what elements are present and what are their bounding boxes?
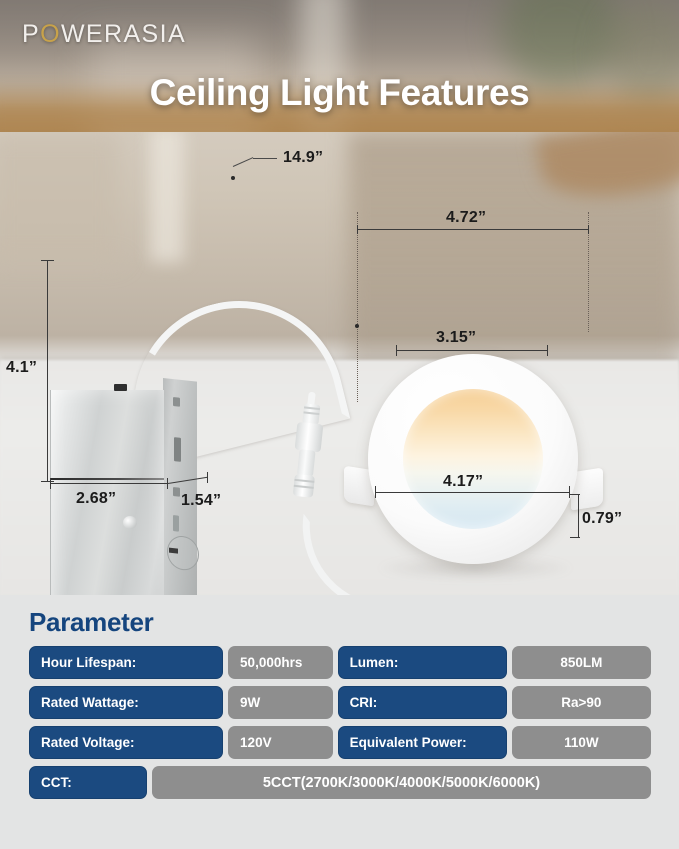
junction-box-cable-entry: [114, 384, 127, 391]
connector-part: [297, 449, 316, 477]
dimension-tick: [547, 345, 548, 356]
param-key-equivalent-power: Equivalent Power:: [338, 726, 507, 759]
param-value-rated-wattage: 9W: [228, 686, 333, 719]
connector-body: [295, 422, 324, 453]
dimension-tick: [207, 472, 208, 483]
cable-callout-anchor: [231, 176, 235, 180]
param-value-lumen: 850LM: [512, 646, 651, 679]
dimension-tick: [396, 345, 397, 356]
param-key-cct: CCT:: [29, 766, 147, 799]
dimension-line-box-height: [47, 260, 48, 482]
junction-box-knockout: [167, 534, 199, 571]
param-value-equivalent-power: 110W: [512, 726, 651, 759]
param-key-lumen: Lumen:: [338, 646, 507, 679]
param-value-cri: Ra>90: [512, 686, 651, 719]
dimension-tick: [50, 478, 51, 489]
junction-box-slot: [174, 437, 181, 462]
dimension-label-box-height: 4.1”: [6, 359, 37, 377]
background-blur-shape: [0, 132, 120, 262]
dimension-tick: [41, 481, 54, 482]
dimension-tick: [588, 225, 589, 234]
downlight-lens-gradient: [403, 389, 543, 529]
dimension-tick: [570, 494, 580, 495]
table-row: CCT: 5CCT(2700K/3000K/4000K/5000K/6000K): [29, 766, 651, 799]
dimension-line-side-height: [578, 494, 579, 538]
cable-callout-leader: [253, 158, 277, 159]
dimension-tick: [569, 486, 570, 498]
dimension-label-side-width: 4.17”: [443, 473, 483, 491]
junction-box-screw: [173, 487, 180, 497]
dimension-line-box-width: [50, 483, 168, 484]
logo-text-accent-o: O: [40, 20, 61, 48]
background-blur-shape: [150, 132, 184, 262]
param-key-rated-voltage: Rated Voltage:: [29, 726, 223, 759]
dimension-line-inner-diameter: [396, 350, 548, 351]
logo-text-prefix: P: [22, 20, 40, 48]
dimension-anchor-dot: [355, 324, 359, 328]
param-key-hour-lifespan: Hour Lifespan:: [29, 646, 223, 679]
parameter-section: Parameter Hour Lifespan: 50,000hrs Lumen…: [0, 595, 679, 849]
dimension-line-outer-diameter: [357, 229, 589, 230]
table-row: Rated Voltage: 120V Equivalent Power: 11…: [29, 726, 651, 759]
dimension-tick: [357, 225, 358, 234]
dimension-line-side-width: [375, 492, 570, 493]
parameter-table: Hour Lifespan: 50,000hrs Lumen: 850LM Ra…: [29, 646, 651, 806]
param-value-rated-voltage: 120V: [228, 726, 333, 759]
param-key-rated-wattage: Rated Wattage:: [29, 686, 223, 719]
junction-box-side-panel: [163, 378, 197, 595]
param-key-cri: CRI:: [338, 686, 507, 719]
page-title: Ceiling Light Features: [0, 72, 679, 114]
junction-box-dimple: [123, 516, 137, 529]
junction-box: [50, 390, 197, 595]
junction-box-screw: [173, 397, 180, 407]
dimension-tick: [570, 537, 580, 538]
dimension-tick: [375, 486, 376, 498]
param-value-hour-lifespan: 50,000hrs: [228, 646, 333, 679]
junction-box-knockout-tab: [169, 548, 178, 554]
brand-logo: POWERASIA: [22, 20, 186, 49]
parameter-heading: Parameter: [29, 607, 154, 638]
dimension-label-box-width: 2.68”: [76, 490, 116, 508]
dimension-tick: [41, 260, 54, 261]
product-infographic-page: POWERASIA Ceiling Light Features: [0, 0, 679, 849]
dimension-label-outer-diameter: 4.72”: [446, 209, 486, 227]
param-value-cct: 5CCT(2700K/3000K/4000K/5000K/6000K): [152, 766, 651, 799]
dimension-label-cable-length: 14.9”: [283, 149, 323, 167]
downlight-front-view: [368, 354, 578, 564]
table-row: Rated Wattage: 9W CRI: Ra>90: [29, 686, 651, 719]
table-row: Hour Lifespan: 50,000hrs Lumen: 850LM: [29, 646, 651, 679]
dimension-label-box-depth: 1.54”: [181, 492, 221, 510]
dimension-extension-line: [357, 212, 358, 402]
dimension-label-side-height: 0.79”: [582, 510, 622, 528]
dimension-label-inner-diameter: 3.15”: [436, 329, 476, 347]
logo-text-suffix: WERASIA: [61, 20, 186, 48]
junction-box-screw: [173, 515, 179, 532]
